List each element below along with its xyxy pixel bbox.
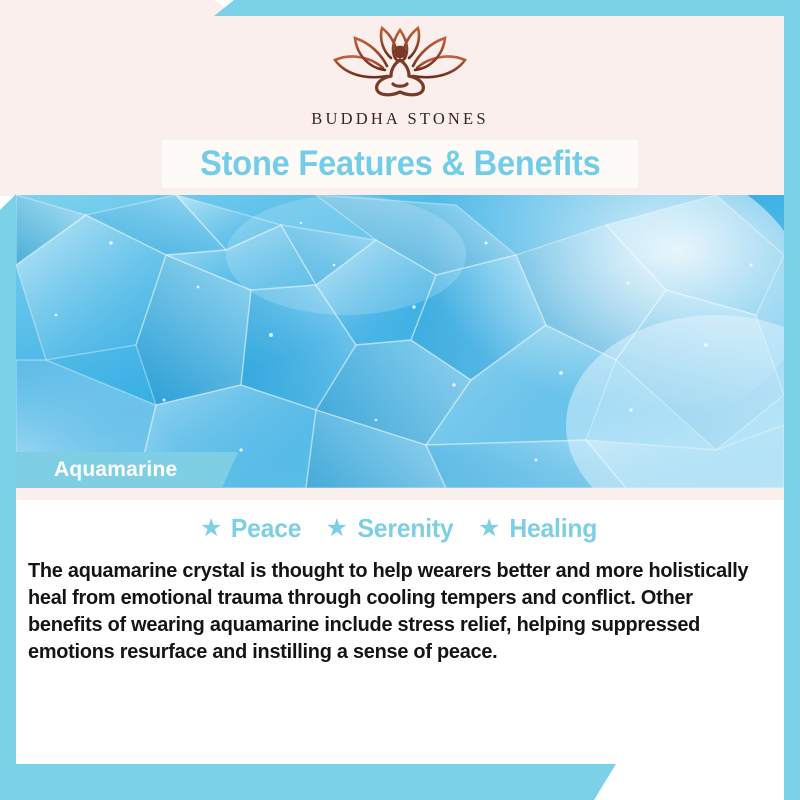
content-top-strip	[16, 488, 784, 500]
description-paragraph: The aquamarine crystal is thought to hel…	[28, 557, 750, 665]
star-icon: ★	[200, 516, 222, 541]
section-title-banner: Stone Features & Benefits	[162, 140, 638, 188]
brand-name: BUDDHA STONES	[0, 109, 800, 129]
keyword-label: Peace	[231, 513, 301, 544]
keyword-label: Serenity	[358, 513, 454, 544]
infographic-page: BUDDHA STONES Stone Features & Benefits	[0, 0, 800, 800]
keyword-item-serenity: ★ Serenity	[326, 513, 456, 544]
keyword-item-peace: ★ Peace	[200, 513, 304, 544]
keyword-label: Healing	[510, 513, 598, 544]
star-icon: ★	[478, 516, 500, 541]
aquamarine-crystal-cluster-photo	[16, 195, 784, 488]
star-icon: ★	[326, 516, 348, 541]
decorative-band-left	[0, 194, 16, 800]
lotus-meditation-figure-icon	[325, 24, 475, 106]
page-title: Stone Features & Benefits	[200, 144, 601, 184]
stone-name-badge: Aquamarine	[16, 452, 238, 488]
stone-name-label: Aquamarine	[54, 458, 177, 482]
brand-logo: BUDDHA STONES	[0, 24, 800, 129]
keyword-item-healing: ★ Healing	[478, 513, 600, 544]
keyword-list: ★ Peace ★ Serenity ★ Healing	[16, 513, 784, 544]
decorative-band-top	[214, 0, 800, 16]
hero-image	[16, 195, 784, 488]
decorative-band-bottom	[0, 764, 616, 800]
